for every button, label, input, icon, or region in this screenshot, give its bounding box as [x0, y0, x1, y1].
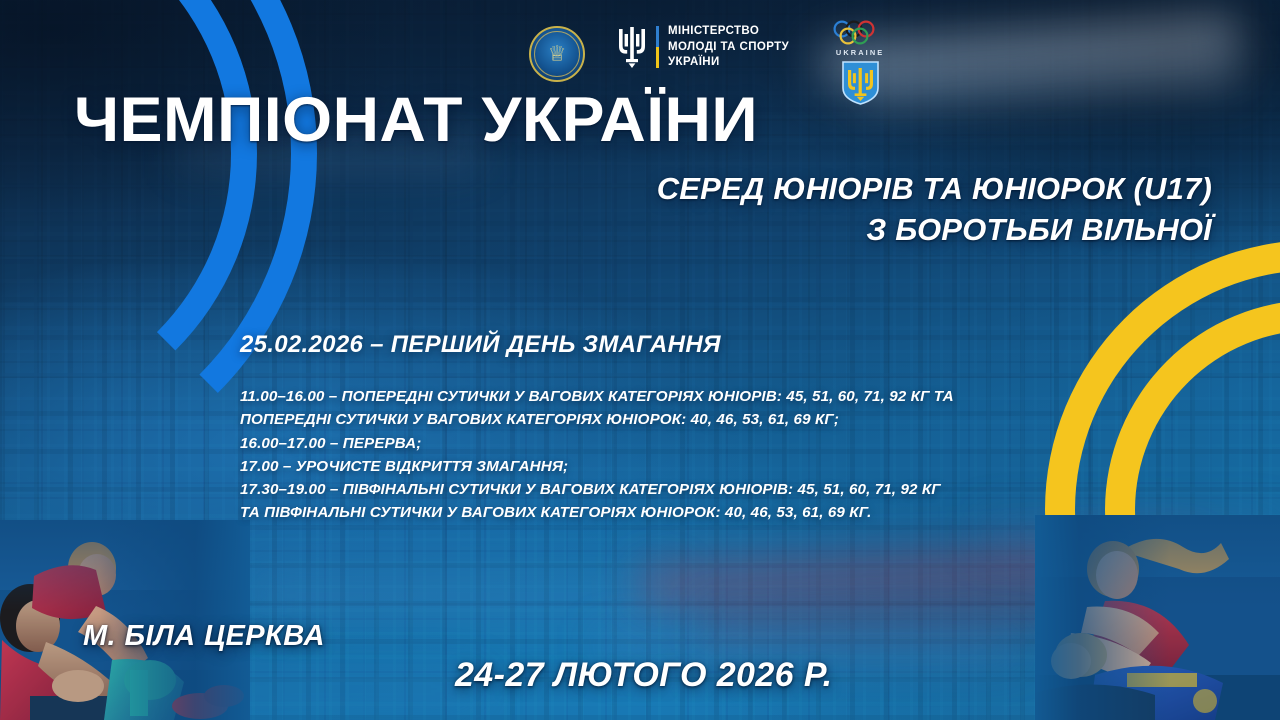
schedule-line: ТА ПІВФІНАЛЬНІ СУТИЧКИ У ВАГОВИХ КАТЕГОР…: [240, 501, 1000, 524]
trident-icon: [617, 25, 647, 69]
ukraine-shield-icon: [841, 60, 880, 106]
federation-emblem-icon: ♕: [529, 26, 585, 82]
wrestler-photo-right: [1035, 515, 1280, 720]
ministry-line-3: УКРАЇНИ: [668, 55, 789, 71]
page-title: ЧЕМПІОНАТ УКРАЇНИ: [74, 89, 758, 152]
schedule-line: 16.00–17.00 – ПЕРЕРВА;: [240, 432, 1000, 455]
subtitle-line-2: З БОРОТЬБИ ВІЛЬНОЇ: [657, 209, 1212, 250]
ministry-name: МІНІСТЕРСТВО МОЛОДІ ТА СПОРТУ УКРАЇНИ: [668, 24, 789, 71]
schedule-block: 25.02.2026 – ПЕРШИЙ ДЕНЬ ЗМАГАННЯ 11.00–…: [240, 331, 1000, 525]
subtitle-line-1: СЕРЕД ЮНІОРІВ ТА ЮНІОРОК (U17): [657, 168, 1212, 209]
ministry-logo: МІНІСТЕРСТВО МОЛОДІ ТА СПОРТУ УКРАЇНИ: [617, 24, 789, 71]
olympic-country-label: UKRAINE: [836, 48, 884, 57]
schedule-line: 17.00 – УРОЧИСТЕ ВІДКРИТТЯ ЗМАГАННЯ;: [240, 455, 1000, 478]
schedule-day-heading: 25.02.2026 – ПЕРШИЙ ДЕНЬ ЗМАГАННЯ: [240, 331, 1000, 359]
schedule-line: 11.00–16.00 – ПОПЕРЕДНІ СУТИЧКИ У ВАГОВИ…: [240, 385, 1000, 408]
ministry-line-1: МІНІСТЕРСТВО: [668, 24, 789, 40]
championship-poster: ♕ МІНІСТЕРСТВО МОЛОДІ ТА СПОРТУ УКРАЇНИ: [0, 0, 1280, 720]
dates-label: 24-27 ЛЮТОГО 2026 Р.: [455, 656, 833, 695]
wrestler-photo-right-art: [1035, 515, 1280, 720]
schedule-line: ПОПЕРЕДНІ СУТИЧКИ У ВАГОВИХ КАТЕГОРІЯХ Ю…: [240, 408, 1000, 431]
poster-subtitle: СЕРЕД ЮНІОРІВ ТА ЮНІОРОК (U17) З БОРОТЬБ…: [657, 168, 1212, 250]
city-label: М. БІЛА ЦЕРКВА: [83, 620, 325, 653]
olympic-rings-icon: [831, 20, 889, 47]
ministry-line-2: МОЛОДІ ТА СПОРТУ: [668, 40, 789, 56]
ministry-divider: [656, 26, 659, 68]
schedule-line: 17.30–19.00 – ПІВФІНАЛЬНІ СУТИЧКИ У ВАГО…: [240, 478, 1000, 501]
olympic-committee-logo: UKRAINE: [831, 20, 889, 106]
